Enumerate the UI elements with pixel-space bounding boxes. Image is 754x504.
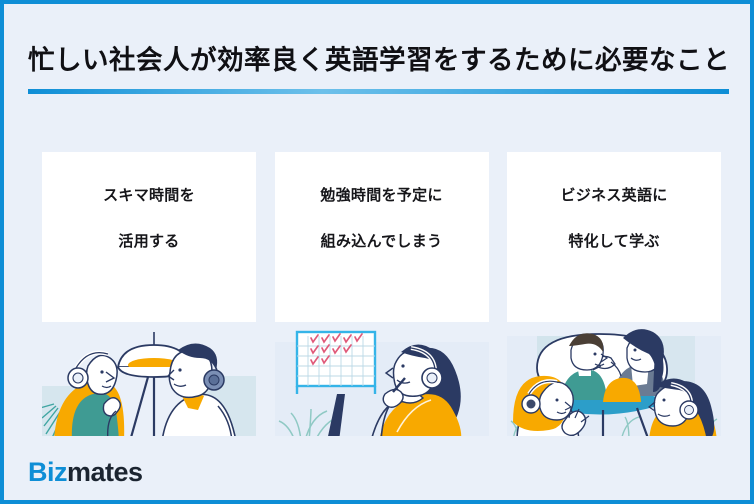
card-3-text: ビジネス英語に 特化して学ぶ xyxy=(507,152,721,322)
title-underline-rule xyxy=(28,89,729,94)
card-2-line-2: 組み込んでしまう xyxy=(289,234,475,250)
bizmates-logo: Bizmates xyxy=(28,459,143,486)
card-3-line-1: ビジネス英語に xyxy=(521,188,707,204)
card-1-line-2: 活用する xyxy=(56,234,242,250)
card-item-2[interactable]: 勉強時間を予定に 組み込んでしまう xyxy=(275,152,489,441)
card-item-3[interactable]: ビジネス英語に 特化して学ぶ xyxy=(507,152,721,441)
business-meeting-group-illustration xyxy=(507,322,721,441)
logo-text-mates: mates xyxy=(67,457,143,487)
card-list: スキマ時間を 活用する xyxy=(42,152,721,441)
logo-text-biz: Biz xyxy=(28,457,67,487)
card-item-1[interactable]: スキマ時間を 活用する xyxy=(42,152,256,441)
card-3-line-2: 特化して学ぶ xyxy=(521,234,707,250)
card-2-line-1: 勉強時間を予定に xyxy=(289,188,475,204)
page-title: 忙しい社会人が効率良く英語学習をするために必要なこと xyxy=(28,44,730,77)
title-block: 忙しい社会人が効率良く英語学習をするために必要なこと xyxy=(28,44,730,94)
woman-calendar-thinking-illustration xyxy=(275,322,489,441)
card-2-text: 勉強時間を予定に 組み込んでしまう xyxy=(275,152,489,322)
card-1-text: スキマ時間を 活用する xyxy=(42,152,256,322)
two-people-headphones-lamp-illustration xyxy=(42,322,256,441)
card-1-line-1: スキマ時間を xyxy=(56,188,242,204)
slide-container: 忙しい社会人が効率良く英語学習をするために必要なこと スキマ時間を 活用する xyxy=(0,0,754,504)
